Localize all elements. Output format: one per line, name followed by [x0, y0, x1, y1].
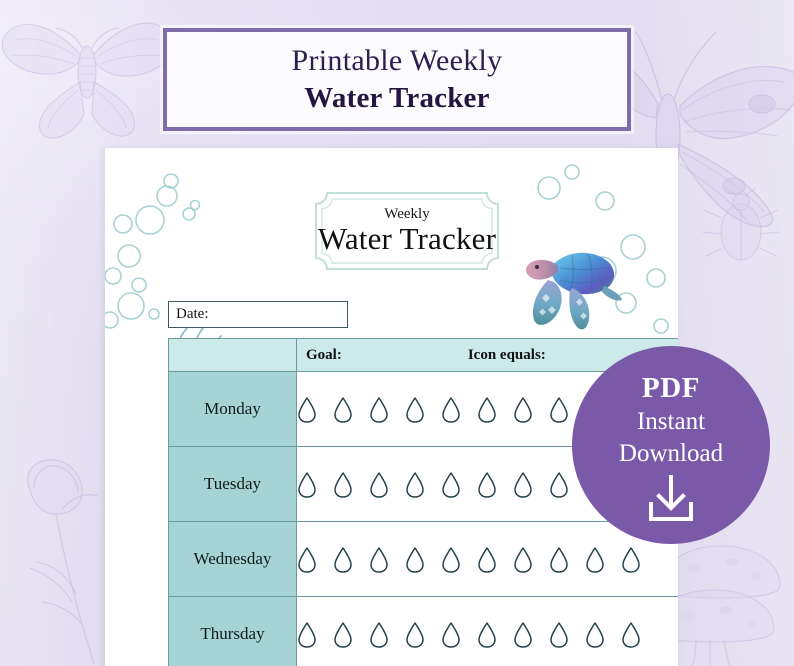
water-drop-icon[interactable] — [477, 546, 497, 573]
water-drop-icon[interactable] — [477, 471, 497, 498]
day-label-cell: Monday — [169, 372, 297, 447]
water-drop-icon[interactable] — [585, 621, 605, 648]
water-drop-icon[interactable] — [441, 396, 461, 423]
table-row: Wednesday — [169, 522, 679, 597]
water-drop-icon[interactable] — [621, 621, 641, 648]
water-drop-icon[interactable] — [549, 471, 569, 498]
water-drop-icon[interactable] — [369, 546, 389, 573]
header-blank-cell — [169, 339, 297, 372]
product-listing-image: Printable Weekly Water Tracker — [0, 0, 794, 666]
water-drop-icon[interactable] — [297, 471, 317, 498]
icon-equals-label: Icon equals: — [468, 347, 546, 364]
header-banner: Printable Weekly Water Tracker — [163, 28, 631, 131]
water-drop-icon[interactable] — [477, 621, 497, 648]
water-drop-icon[interactable] — [369, 621, 389, 648]
day-label-cell: Thursday — [169, 597, 297, 666]
water-drop-icon[interactable] — [405, 471, 425, 498]
download-arrow-icon — [643, 474, 699, 524]
water-drop-icon[interactable] — [333, 396, 353, 423]
badge-line1: Instant — [637, 406, 705, 439]
date-field[interactable]: Date: — [168, 301, 348, 328]
banner-title-line2: Water Tracker — [304, 82, 489, 115]
table-row: Thursday — [169, 597, 679, 666]
moth-illustration — [0, 0, 182, 154]
water-drop-icon[interactable] — [297, 621, 317, 648]
water-drops-cell[interactable] — [297, 597, 679, 666]
water-drop-icon[interactable] — [441, 621, 461, 648]
water-drop-icon[interactable] — [441, 471, 461, 498]
pdf-instant-download-badge: PDF Instant Download — [572, 346, 770, 544]
banner-title-line1: Printable Weekly — [292, 44, 503, 78]
water-drop-icon[interactable] — [585, 546, 605, 573]
beetle-illustration — [696, 188, 786, 268]
water-drop-icon[interactable] — [441, 546, 461, 573]
water-drop-icon[interactable] — [513, 471, 533, 498]
water-drop-icon[interactable] — [405, 396, 425, 423]
water-drop-icon[interactable] — [513, 621, 533, 648]
water-drop-icon[interactable] — [621, 546, 641, 573]
water-drop-icon[interactable] — [477, 396, 497, 423]
water-drop-icon[interactable] — [549, 396, 569, 423]
plaque-title: Water Tracker — [318, 221, 496, 257]
goal-label: Goal: — [297, 347, 342, 364]
water-drop-icon[interactable] — [513, 546, 533, 573]
water-drops-cell[interactable] — [297, 522, 679, 597]
day-label-cell: Tuesday — [169, 447, 297, 522]
water-drop-icon[interactable] — [369, 471, 389, 498]
title-plaque: Weekly Water Tracker — [313, 190, 501, 272]
date-label: Date: — [169, 306, 208, 323]
table-header-row: Goal: Icon equals: — [169, 339, 679, 372]
water-drop-icon[interactable] — [333, 546, 353, 573]
water-drop-icon[interactable] — [369, 396, 389, 423]
water-drop-icon[interactable] — [297, 546, 317, 573]
water-drop-icon[interactable] — [405, 546, 425, 573]
water-drop-icon[interactable] — [549, 621, 569, 648]
badge-title: PDF — [642, 372, 700, 405]
water-drop-icon[interactable] — [549, 546, 569, 573]
badge-line2: Download — [619, 438, 723, 469]
water-drop-icon[interactable] — [513, 396, 533, 423]
water-drop-icon[interactable] — [297, 396, 317, 423]
sea-turtle-illustration — [512, 236, 622, 332]
day-label-cell: Wednesday — [169, 522, 297, 597]
water-drop-icon[interactable] — [333, 471, 353, 498]
water-drop-icon[interactable] — [405, 621, 425, 648]
water-drop-icon[interactable] — [333, 621, 353, 648]
